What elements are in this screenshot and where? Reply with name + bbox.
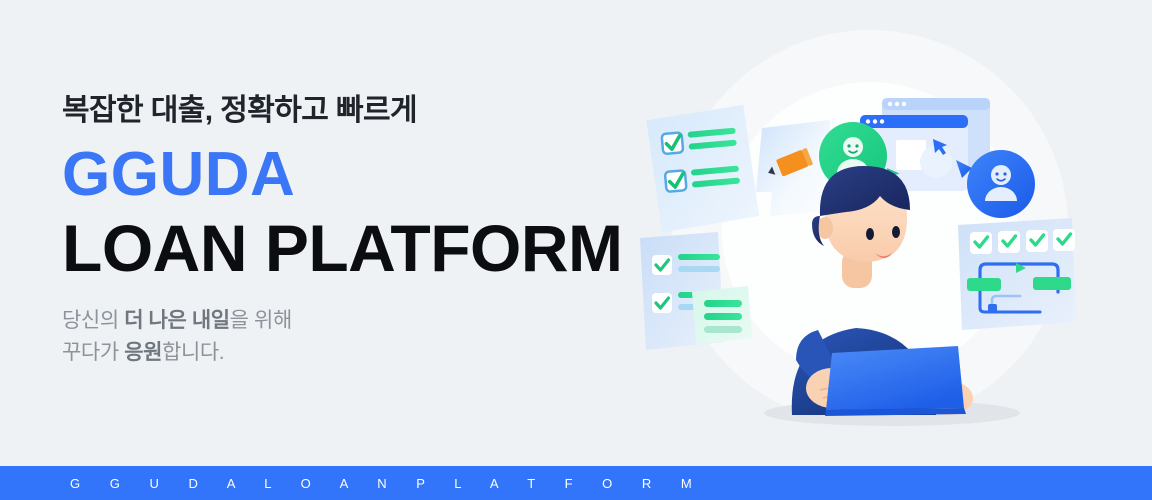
hero-brand-name: GGUDA	[62, 144, 622, 206]
tagline-line1-suffix: 을 위해	[230, 309, 292, 332]
tagline-line2-prefix: 꾸다가	[62, 341, 124, 364]
note-card-mint	[692, 286, 752, 344]
tagline-line1-bold: 더 나은 내일	[124, 309, 229, 332]
hero-eyebrow: 복잡한 대출, 정확하고 빠르게	[62, 92, 622, 130]
hero-illustration	[620, 20, 1090, 460]
hero-banner: 복잡한 대출, 정확하고 빠르게 GGUDA LOAN PLATFORM 당신의…	[0, 0, 1152, 500]
tagline-line2-bold: 응원	[124, 341, 162, 364]
hero-product-name: LOAN PLATFORM	[62, 214, 622, 283]
hero-tagline-line-2: 꾸다가 응원합니다.	[62, 337, 622, 370]
tagline-line1-prefix: 당신의	[62, 309, 124, 332]
checklist-card-top-left	[646, 104, 760, 233]
workflow-card-right	[958, 218, 1076, 330]
bottom-marquee-bar: G G U D A L O A N P L A T F O R M	[0, 466, 1152, 500]
hero-copy: 복잡한 대출, 정확하고 빠르게 GGUDA LOAN PLATFORM 당신의…	[62, 92, 622, 370]
tagline-line2-suffix: 합니다.	[162, 341, 224, 364]
hero-tagline-line-1: 당신의 더 나은 내일을 위해	[62, 305, 622, 338]
laptop	[825, 346, 966, 416]
bottom-marquee-text: G G U D A L O A N P L A T F O R M	[0, 476, 705, 491]
hero-tagline: 당신의 더 나은 내일을 위해 꾸다가 응원합니다.	[62, 305, 622, 370]
